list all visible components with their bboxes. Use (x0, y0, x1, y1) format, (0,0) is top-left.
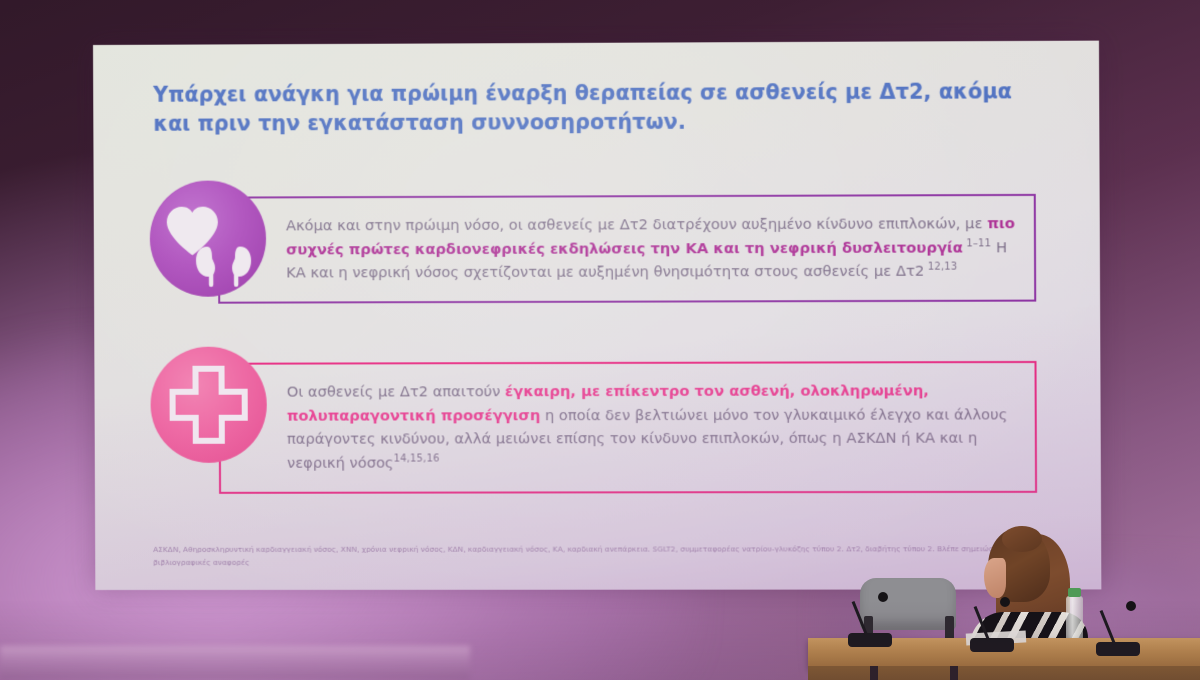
panel-table-area (818, 520, 1200, 680)
water-bottle-cap (1068, 588, 1081, 597)
panel-table-front (808, 666, 1200, 680)
segment-text: Οι ασθενείς με Δτ2 απαιτούν (287, 383, 505, 400)
person-hair-bun (1002, 526, 1042, 552)
management-text-box: Οι ασθενείς με Δτ2 απαιτούν έγκαιρη, με … (218, 361, 1037, 493)
person-face (984, 558, 1006, 598)
lecture-hall-scene: Υπάρχει ανάγκη για πρώιμη έναρξη θεραπεί… (0, 0, 1200, 680)
segment-text: Ακόμα και στην πρώιμη νόσο, οι ασθενείς … (286, 215, 987, 234)
reference-superscript: 14,15,16 (394, 454, 440, 465)
table-leg (950, 666, 958, 680)
medical-cross-icon (150, 347, 267, 463)
slide-title: Υπάρχει ανάγκη για πρώιμη έναρξη θεραπεί… (153, 77, 1029, 139)
microphone (970, 638, 1014, 652)
content-block-cardiorenal: Ακόμα και στην πρώιμη νόσο, οι ασθενείς … (150, 178, 1037, 304)
reference-superscript: 12,13 (924, 262, 957, 273)
microphone (1096, 642, 1140, 656)
reference-superscript: 1–11 (963, 238, 991, 249)
chair (860, 578, 956, 630)
table-leg (870, 666, 878, 680)
content-block-management: Οι ασθενείς με Δτ2 απαιτούν έγκαιρη, με … (150, 345, 1037, 494)
cardiorenal-text-box: Ακόμα και στην πρώιμη νόσο, οι ασθενείς … (218, 194, 1036, 304)
projected-slide: Υπάρχει ανάγκη για πρώιμη έναρξη θεραπεί… (93, 41, 1101, 590)
floor-edge (0, 646, 470, 680)
heart-kidney-icon (150, 180, 267, 296)
microphone (848, 633, 892, 647)
